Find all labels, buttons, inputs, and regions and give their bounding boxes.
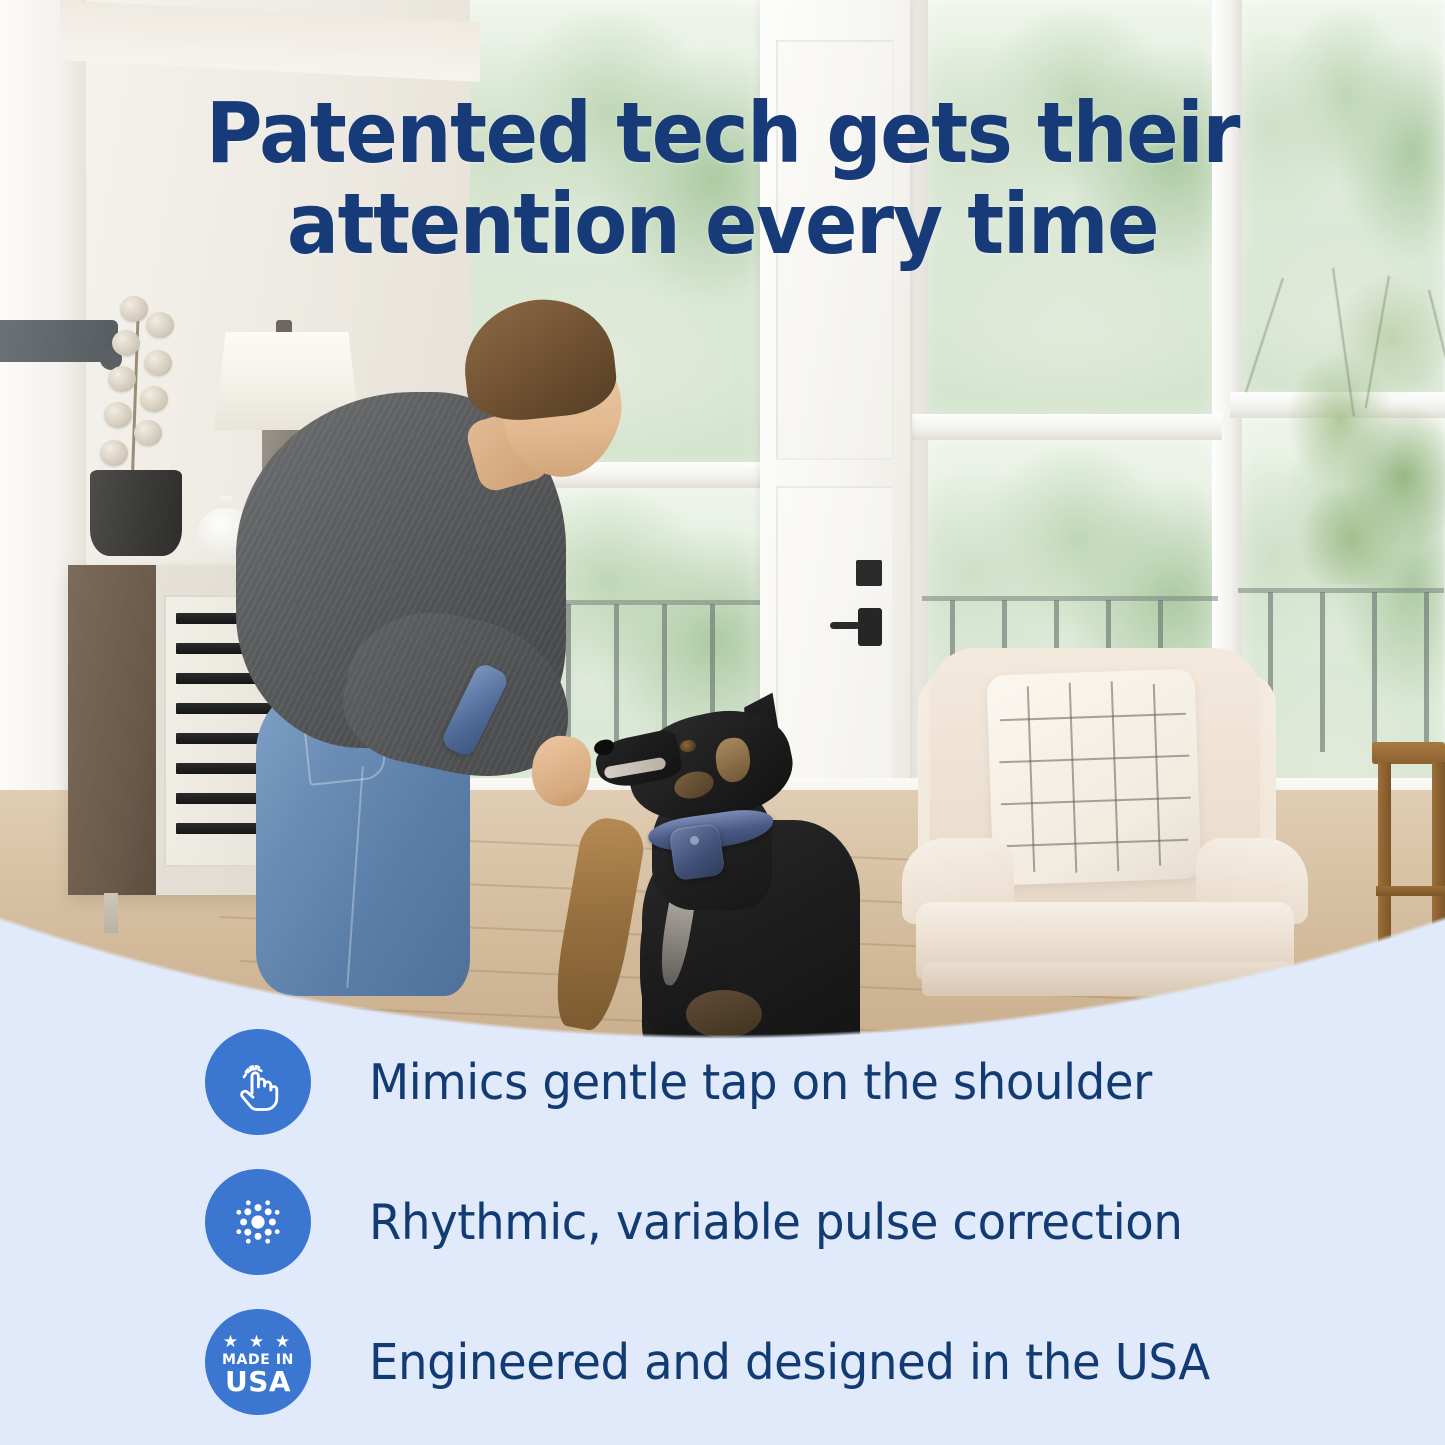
badge-stars: ★ ★ ★ [205, 1333, 311, 1350]
dark-planter-pot [90, 470, 182, 556]
plant-twig [1332, 268, 1355, 417]
cotton-bud [104, 402, 132, 428]
side-table-top [1372, 742, 1445, 764]
cotton-bud [108, 366, 136, 392]
plant-twig [1428, 290, 1445, 397]
feature-label: Engineered and designed in the USA [369, 1334, 1210, 1391]
cabinet-dark-side [68, 565, 156, 895]
headline-line-2: attention every time [58, 179, 1387, 270]
cotton-bud [134, 420, 162, 446]
promo-image-root: Patented tech gets their attention every… [0, 0, 1445, 1445]
collar-contact-point [690, 836, 699, 845]
pulse-burst-icon [205, 1169, 311, 1275]
windowpane-pillow [986, 668, 1201, 885]
person-training-dog [236, 296, 656, 996]
chair-base [922, 962, 1290, 996]
plant-twig [1365, 276, 1390, 408]
cotton-bud [140, 386, 168, 412]
made-in-usa-badge-icon: ★ ★ ★ MADE IN USA [205, 1309, 311, 1415]
cotton-bud [112, 330, 140, 356]
feature-label: Rhythmic, variable pulse correction [369, 1194, 1182, 1251]
feature-item-pulse: Rhythmic, variable pulse correction [0, 1152, 1445, 1292]
railing-post [1372, 592, 1377, 752]
railing-post [1320, 592, 1325, 752]
cotton-bud [146, 312, 174, 338]
feature-item-tap: Mimics gentle tap on the shoulder [0, 1012, 1445, 1152]
balcony-railing [922, 596, 1218, 601]
headline-line-1: Patented tech gets their [58, 88, 1387, 179]
cotton-bud [100, 440, 128, 466]
side-table-leg [1432, 762, 1445, 962]
door-hinge [856, 560, 882, 586]
cabinet-leg [104, 893, 118, 933]
railing-post [1424, 592, 1429, 752]
hanging-plant [1262, 268, 1445, 584]
door-handle-lever [830, 622, 860, 629]
window-mullion [912, 414, 1222, 440]
cotton-bud [120, 296, 148, 322]
badge-main-text: USA [205, 1368, 311, 1396]
hair [458, 292, 620, 425]
side-table-stretcher [1376, 886, 1445, 896]
collar-receiver-module [669, 823, 726, 881]
feature-item-usa: ★ ★ ★ MADE IN USA Engineered and designe… [0, 1292, 1445, 1432]
feature-list: Mimics gentle tap on the shoulder [0, 1000, 1445, 1445]
feature-label: Mimics gentle tap on the shoulder [369, 1054, 1152, 1111]
cotton-bud [144, 350, 172, 376]
door-handle-plate [858, 608, 882, 646]
page-title: Patented tech gets their attention every… [58, 88, 1387, 269]
tap-hand-icon [205, 1029, 311, 1135]
side-table-leg [1378, 762, 1391, 962]
